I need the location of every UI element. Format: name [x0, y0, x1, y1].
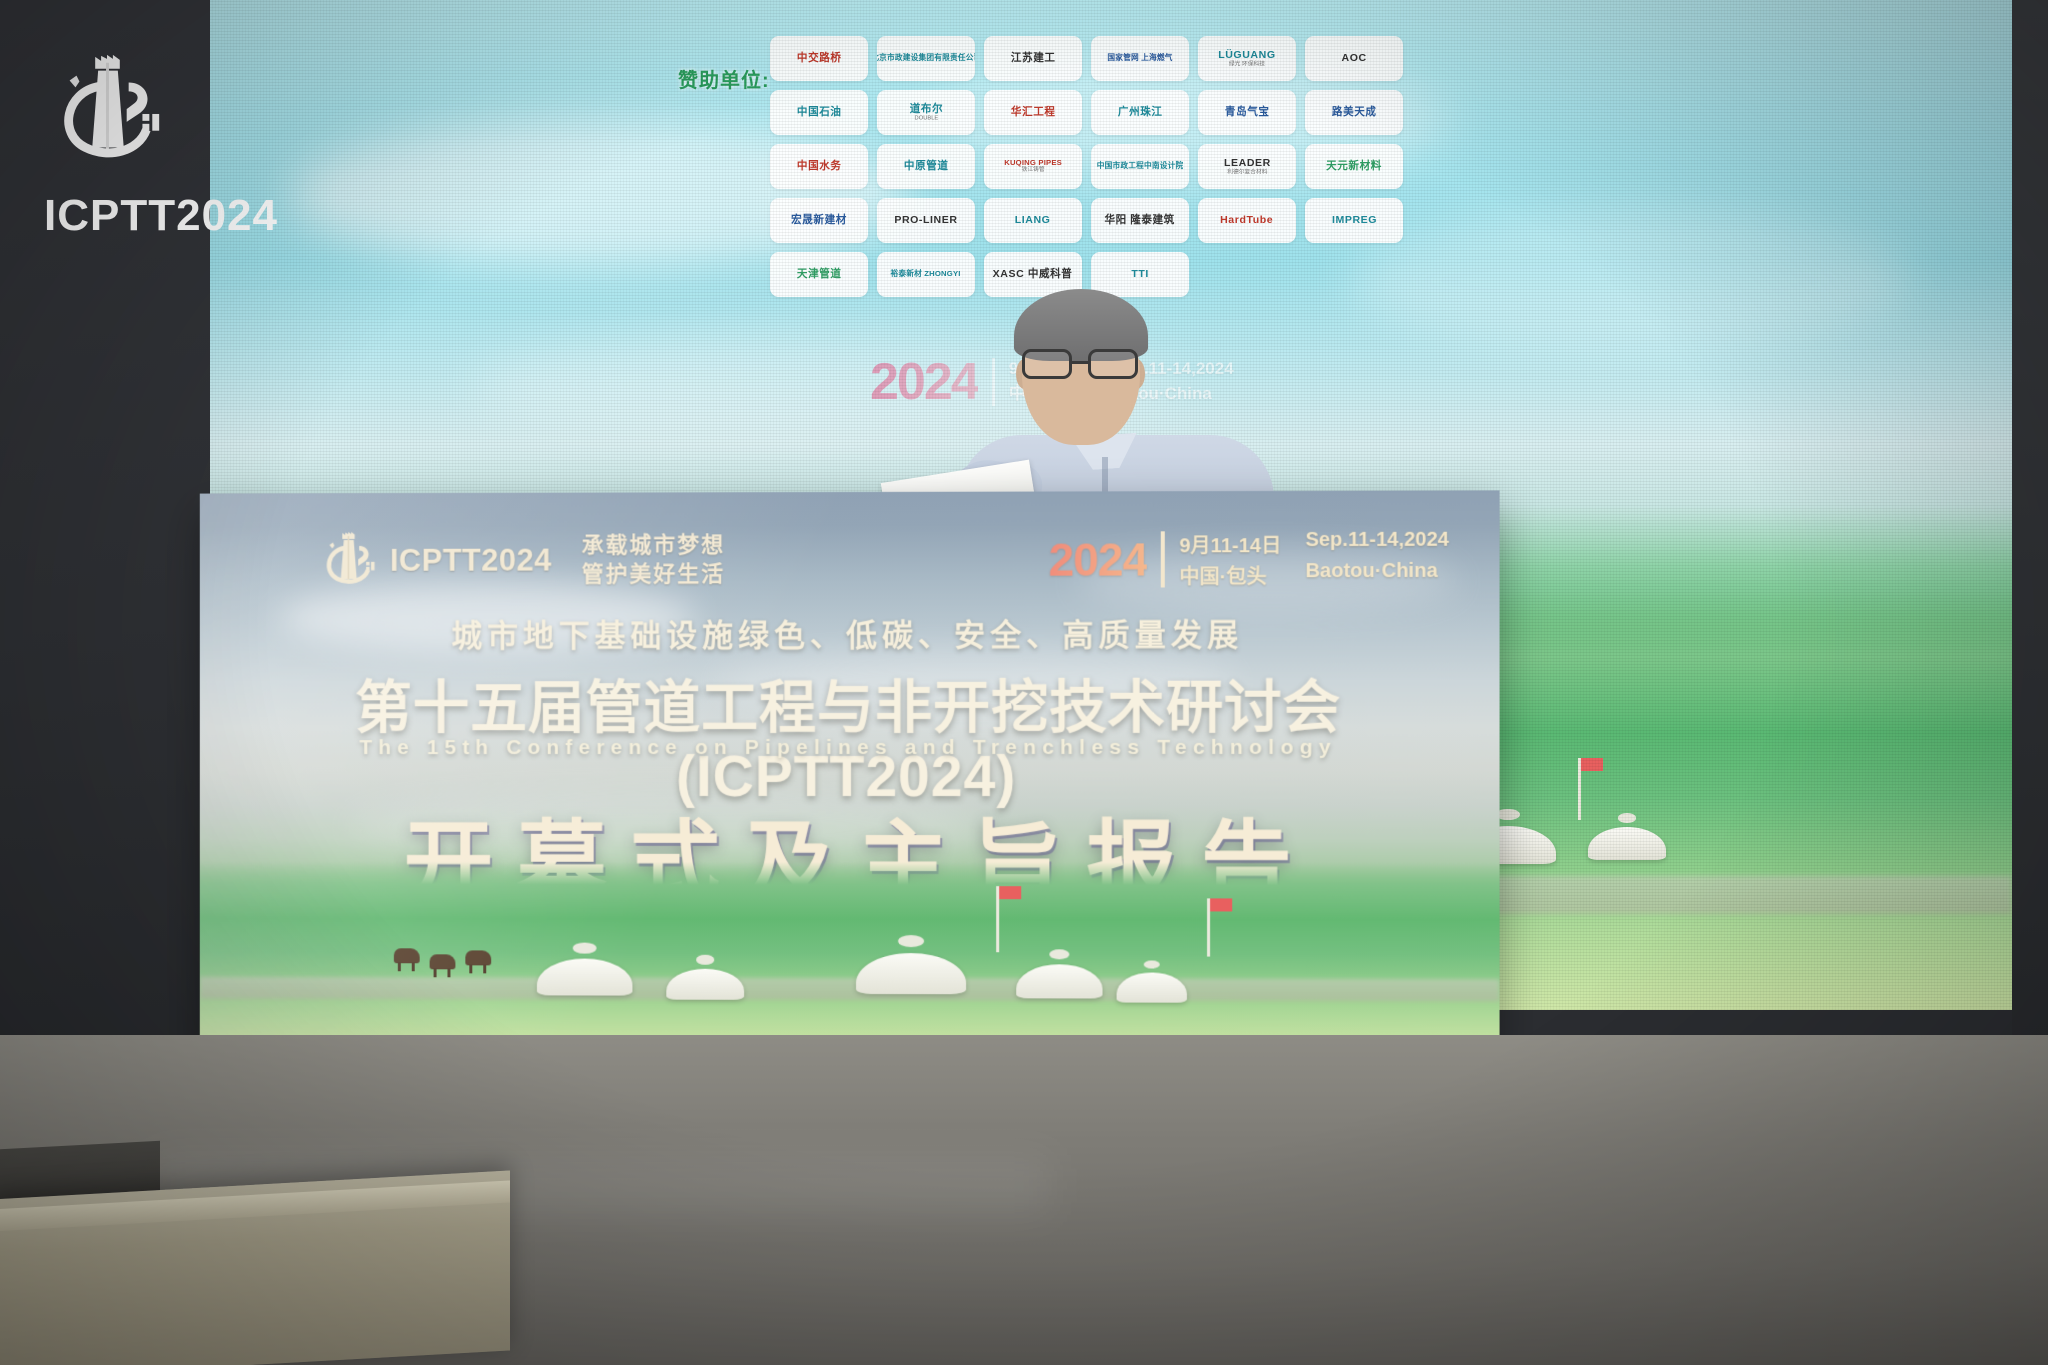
sponsor-logo-name: 青岛气宝	[1225, 107, 1270, 118]
sponsor-logo-cell[interactable]: LEADER利德尔复合材料	[1198, 144, 1296, 189]
yurt-graphic	[1016, 952, 1102, 998]
sponsor-board-label: 赞助单位:	[678, 64, 770, 93]
sponsor-logo-name: 宏晟新建材	[791, 215, 847, 226]
sponsor-logo-name: 华汇工程	[1011, 107, 1056, 118]
sponsor-logo-name: 中国市政工程中南设计院	[1097, 162, 1184, 170]
sponsor-logo-subname: 铁江铸管	[1004, 168, 1062, 174]
sponsor-logo-cell[interactable]: 道布尔DOUBLE	[877, 90, 975, 135]
sponsor-logo-cell[interactable]: 天元新材料	[1305, 144, 1403, 189]
podium-slogan: 承载城市梦想 管护美好生活	[582, 531, 726, 590]
sponsor-logo-cell[interactable]: IMPREG	[1305, 198, 1403, 243]
podium-subtitle: 城市地下基础设施绿色、低碳、安全、高质量发展	[200, 609, 1500, 656]
sponsor-logo-cell[interactable]: 广州珠江	[1091, 90, 1189, 135]
icptt-watermark: ICPTT2024	[44, 48, 294, 241]
sponsor-logo-name: XASC 中威科普	[993, 269, 1073, 280]
sponsor-logo-cell[interactable]: 江苏建工	[984, 36, 1082, 81]
podium-banner: ICPTT2024 承载城市梦想 管护美好生活 2024 9月11-14日 Se…	[200, 490, 1500, 1053]
icptt-tower-logo-icon	[317, 528, 380, 594]
sponsor-logo-name: AOC	[1341, 53, 1366, 64]
sponsor-logo-cell[interactable]: 中国石油	[770, 90, 868, 135]
sponsor-logo-name: 广州珠江	[1118, 107, 1163, 118]
sponsor-logo-subname: DOUBLE	[909, 115, 942, 121]
sponsor-logo-name: 北京市政建设集团有限责任公司	[877, 54, 975, 62]
sponsor-logo-name: KUQING PIPES铁江铸管	[1004, 159, 1062, 173]
sponsor-logo-cell[interactable]: 国家管网 上海燃气	[1091, 36, 1189, 81]
sponsor-logo-name: HardTube	[1220, 215, 1273, 226]
sponsor-logo-name: 中交路桥	[797, 53, 842, 64]
sponsor-logo-cell[interactable]: LÜGUANG绿光 环保科技	[1198, 36, 1296, 81]
sponsor-logo-cell[interactable]: 中原管道	[877, 144, 975, 189]
podium-date-cn: 9月11-14日	[1179, 529, 1281, 558]
sponsor-logo-name: 天元新材料	[1326, 161, 1382, 172]
sponsor-logo-name: 天津管道	[797, 269, 842, 280]
podium-date-divider	[1161, 531, 1165, 587]
sponsor-logo-cell[interactable]: 宏晟新建材	[770, 198, 868, 243]
sponsor-logo-name: LEADER利德尔复合材料	[1224, 158, 1271, 175]
eyeglasses-icon	[1088, 349, 1138, 379]
sponsor-logo-name: PRO-LINER	[894, 215, 957, 226]
yurt-graphic	[1588, 816, 1666, 860]
podium-date-lockup: 2024 9月11-14日 Sep.11-14,2024 中国·包头 Baoto…	[1048, 529, 1449, 590]
sponsor-logo-cell[interactable]: 华阳 隆泰建筑	[1091, 198, 1189, 243]
sponsor-logo-name: 中原管道	[904, 161, 949, 172]
sponsor-logo-cell[interactable]: AOC	[1305, 36, 1403, 81]
sponsor-logo-cell[interactable]: 中国市政工程中南设计院	[1091, 144, 1189, 189]
podium-slogan-line1: 承载城市梦想	[582, 531, 726, 561]
yurt-graphic	[537, 946, 633, 996]
sponsor-logo-cell[interactable]: 青岛气宝	[1198, 90, 1296, 135]
sponsor-logo-name: 中国水务	[797, 161, 842, 172]
watermark-title: ICPTT2024	[44, 191, 294, 241]
sponsor-logo-name: 江苏建工	[1011, 53, 1056, 64]
sponsor-logo-cell[interactable]: LIANG	[984, 198, 1082, 243]
podium-logo-name: ICPTT2024	[390, 543, 552, 579]
podium-title-en: The 15th Conference on Pipelines and Tre…	[200, 736, 1500, 760]
sponsor-logo-name: 中国石油	[797, 107, 842, 118]
podium-year: 2024	[1048, 532, 1147, 586]
podium-city-en: Baotou·China	[1305, 560, 1449, 589]
sponsor-logo-name: 国家管网 上海燃气	[1107, 54, 1172, 62]
podium-date-grid: 9月11-14日 Sep.11-14,2024 中国·包头 Baotou·Chi…	[1179, 529, 1449, 590]
sponsor-logo-subname: 绿光 环保科技	[1218, 61, 1275, 67]
podium-header: ICPTT2024 承载城市梦想 管护美好生活 2024 9月11-14日 Se…	[317, 517, 1449, 603]
sponsor-logo-cell[interactable]: KUQING PIPES铁江铸管	[984, 144, 1082, 189]
yurt-graphic	[856, 938, 966, 994]
yurt-graphic	[666, 958, 744, 1000]
sponsor-logo-cell[interactable]: 裕泰新材 ZHONGYI	[877, 252, 975, 297]
sponsor-logo-subname: 利德尔复合材料	[1224, 169, 1271, 175]
sponsor-logo-name: IMPREG	[1331, 215, 1376, 226]
sponsor-logo-name: LÜGUANG绿光 环保科技	[1218, 50, 1275, 67]
sponsor-logo-cell[interactable]: 中交路桥	[770, 36, 868, 81]
sponsor-logo-cell[interactable]: 华汇工程	[984, 90, 1082, 135]
eyeglasses-icon	[1022, 349, 1072, 379]
sponsor-logo-name: 华阳 隆泰建筑	[1105, 215, 1175, 226]
led-year: 2024	[870, 352, 978, 412]
sponsor-logo-name: TTI	[1131, 269, 1149, 280]
podium-slogan-line2: 管护美好生活	[582, 560, 726, 590]
sponsor-logo-cell[interactable]: PRO-LINER	[877, 198, 975, 243]
conference-photo-scene: 2024 9月11-14日Sep.11-14,2024 中国·包头Baotou·…	[0, 0, 2048, 1365]
podium-date-en: Sep.11-14,2024	[1305, 529, 1449, 558]
sponsor-logo-cell[interactable]: 路美天成	[1305, 90, 1403, 135]
sponsor-logo-name: 裕泰新材 ZHONGYI	[891, 270, 961, 278]
sponsor-logo-cell[interactable]: 中国水务	[770, 144, 868, 189]
sponsor-logo-cell[interactable]: 天津管道	[770, 252, 868, 297]
sponsor-logo-name: LIANG	[1015, 215, 1051, 226]
podium-city-cn: 中国·包头	[1179, 560, 1281, 589]
sponsor-logo-name: 路美天成	[1332, 107, 1377, 118]
sponsor-logo-cell[interactable]: 北京市政建设集团有限责任公司	[877, 36, 975, 81]
sponsor-logo-cell[interactable]: HardTube	[1198, 198, 1296, 243]
yurt-graphic	[1117, 962, 1187, 1002]
sponsor-logo-grid: 中交路桥北京市政建设集团有限责任公司江苏建工国家管网 上海燃气LÜGUANG绿光…	[770, 36, 1403, 297]
icptt-tower-logo-icon	[44, 48, 170, 176]
sponsor-logo-name: 道布尔DOUBLE	[909, 104, 942, 121]
